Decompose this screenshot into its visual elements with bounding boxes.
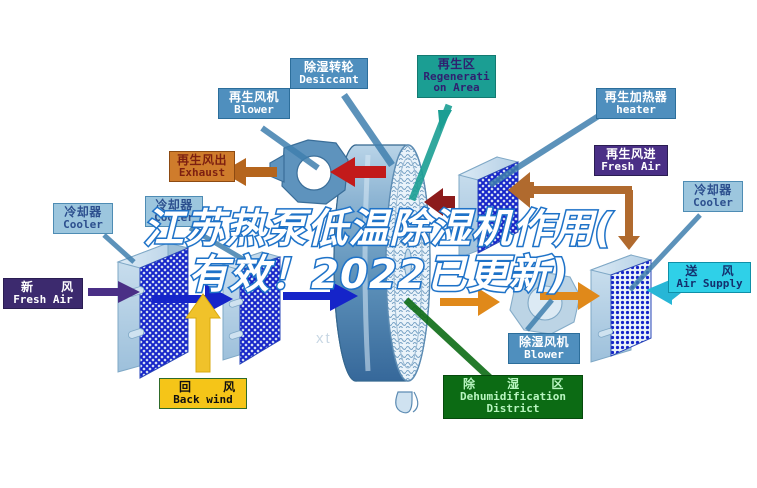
- label-dehum-blower-en: Blower: [514, 349, 574, 361]
- label-fresh-air: 新 风 Fresh Air: [3, 278, 83, 309]
- label-dehum-blower-cn: 除湿风机: [514, 336, 574, 349]
- condensate-icon: [396, 392, 418, 413]
- label-regen-fresh-air-cn: 再生风进: [600, 148, 662, 161]
- label-regen-blower: 再生风机 Blower: [218, 88, 290, 119]
- arrow-regen-intake: [508, 172, 640, 250]
- label-fresh-air-cn: 新 风: [9, 281, 77, 294]
- faint-watermark: xt: [316, 330, 332, 347]
- label-desiccant-wheel: 除湿转轮 Desiccant: [290, 58, 368, 89]
- arrow-dehumidified-1: [440, 288, 500, 316]
- label-desiccant-wheel-cn: 除湿转轮: [296, 61, 362, 74]
- label-cooler-mid-cn: 冷却器: [151, 199, 197, 212]
- label-cooler-right-en: Cooler: [689, 197, 737, 209]
- label-cooler-left-cn: 冷却器: [59, 206, 107, 219]
- label-regen-blower-cn: 再生风机: [224, 91, 284, 104]
- label-regeneration-area-cn: 再生区: [423, 58, 490, 71]
- label-regeneration-area: 再生区 Regenerati on Area: [417, 55, 496, 98]
- label-regen-fresh-air: 再生风进 Fresh Air: [594, 145, 668, 176]
- label-desiccant-wheel-en: Desiccant: [296, 74, 362, 86]
- label-cooler-right: 冷却器 Cooler: [683, 181, 743, 212]
- label-regen-fresh-air-en: Fresh Air: [600, 161, 662, 173]
- label-exhaust: 再生风出 Exhaust: [169, 151, 235, 182]
- label-regeneration-area-en: Regenerati on Area: [423, 71, 490, 94]
- label-regen-heater: 再生加热器 heater: [596, 88, 676, 119]
- label-air-supply: 送 风 Air Supply: [668, 262, 751, 293]
- label-cooler-mid-en: Cooler: [151, 212, 197, 224]
- label-back-wind-en: Back wind: [165, 394, 241, 406]
- label-regen-heater-en: heater: [602, 104, 670, 116]
- supply-coil-block: [591, 255, 651, 362]
- label-cooler-left-en: Cooler: [59, 219, 107, 231]
- label-dehum-district: 除 湿 区 Dehumidification District: [443, 375, 583, 419]
- diagram-canvas: 除湿转轮 Desiccant 再生风机 Blower 再生风出 Exhaust …: [0, 0, 757, 488]
- label-dehum-blower: 除湿风机 Blower: [508, 333, 580, 364]
- label-cooler-left: 冷却器 Cooler: [53, 203, 113, 234]
- cooler-block-mid: [223, 252, 280, 364]
- cooler-block-left: [118, 243, 188, 378]
- label-air-supply-en: Air Supply: [674, 278, 745, 290]
- label-air-supply-cn: 送 风: [674, 265, 745, 278]
- label-exhaust-en: Exhaust: [175, 167, 229, 179]
- label-cooler-mid: 冷却器 Cooler: [145, 196, 203, 227]
- dehumidification-blower: [510, 272, 580, 334]
- arrow-regen-hot-2: [424, 188, 455, 216]
- label-dehum-district-en: Dehumidification District: [449, 391, 577, 416]
- label-regen-blower-en: Blower: [224, 104, 284, 116]
- dehumidifier-schematic: [0, 0, 757, 488]
- label-exhaust-cn: 再生风出: [175, 154, 229, 167]
- label-fresh-air-en: Fresh Air: [9, 294, 77, 306]
- label-regen-heater-cn: 再生加热器: [602, 91, 670, 104]
- regeneration-area-tail: [438, 110, 452, 132]
- label-cooler-right-cn: 冷却器: [689, 184, 737, 197]
- label-dehum-district-cn: 除 湿 区: [449, 378, 577, 391]
- label-back-wind: 回 风 Back wind: [159, 378, 247, 409]
- label-back-wind-cn: 回 风: [165, 381, 241, 394]
